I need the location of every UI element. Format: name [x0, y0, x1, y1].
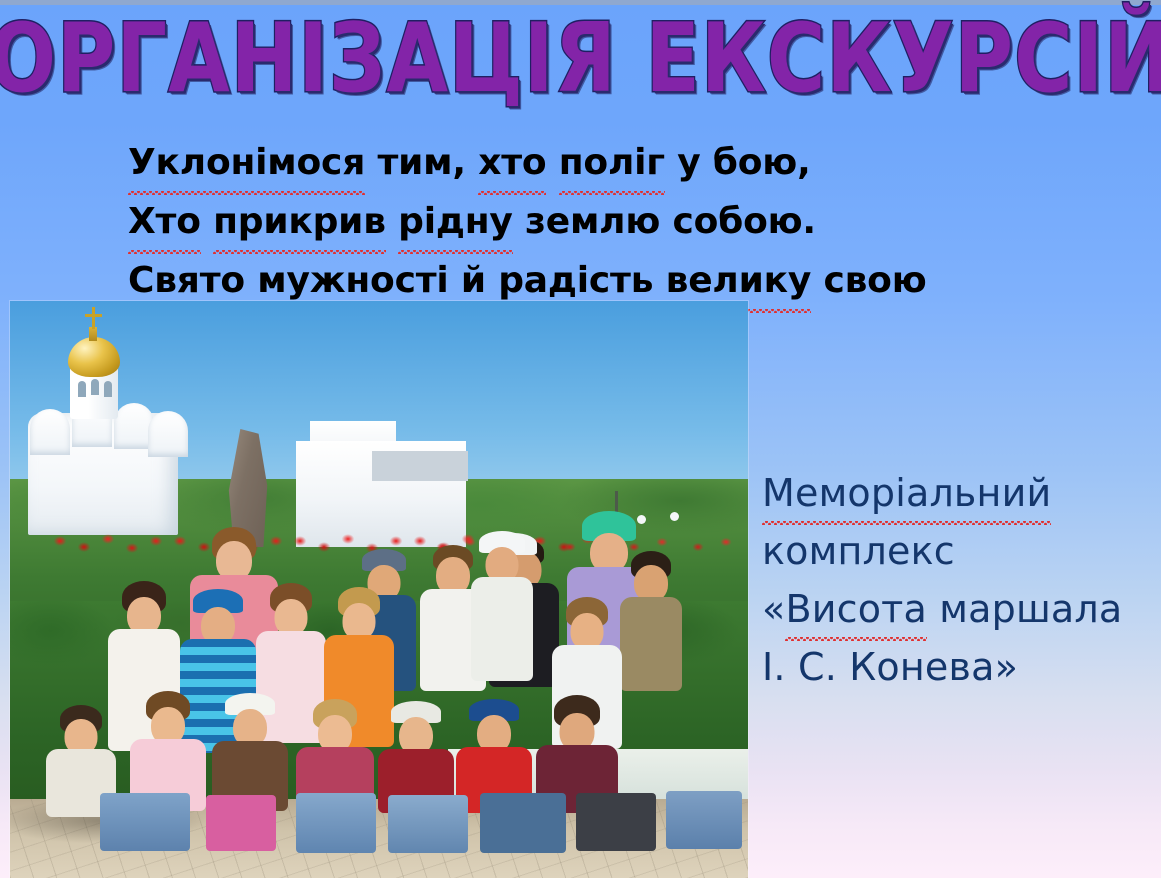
text-run: маршала [927, 587, 1122, 631]
photo-legs-row [480, 793, 566, 853]
poem-line: Хто прикрив рідну землю собою. [128, 192, 1028, 251]
text-run: свою [811, 260, 926, 301]
photo-caption: Меморіальнийкомплекс«Висота маршалаІ. С.… [762, 464, 1157, 696]
spellcheck-word: Уклонімося [128, 133, 365, 192]
text-run: й [449, 260, 499, 301]
photo-person [470, 531, 534, 681]
top-edge-strip [0, 0, 1161, 5]
photo-legs-row [576, 793, 656, 851]
spellcheck-word: поліг [559, 133, 665, 192]
poem-line: Уклонімося тим, хто поліг у бою, [128, 133, 1028, 192]
caption-line: Меморіальний [762, 464, 1157, 522]
caption-line: комплекс [762, 522, 1157, 580]
photo-cross-icon [92, 307, 95, 329]
text-run: тим, [365, 142, 478, 183]
caption-line: «Висота маршала [762, 580, 1157, 638]
spellcheck-word: хто [478, 133, 546, 192]
photo-church-arch [148, 411, 188, 457]
caption-line: І. С. Конева» [762, 638, 1157, 696]
slide: ОРГАНІЗАЦІЯ ЕКСКУРСІЙ Уклонімося тим, хт… [0, 0, 1161, 878]
text-run [653, 260, 665, 301]
photo-legs-row [206, 795, 276, 851]
photo-legs-row [388, 795, 468, 853]
photo-church-window [78, 381, 86, 397]
spellcheck-word: рідну [398, 192, 513, 251]
photo-lamp-globe [670, 512, 679, 521]
photo-cross-icon [85, 314, 102, 317]
text-run: І. С. Конева» [762, 645, 1018, 689]
photo-legs-row [100, 793, 190, 851]
photo-legs-row [296, 793, 376, 853]
photo-person [618, 551, 684, 691]
text-run [546, 142, 558, 183]
text-run: комплекс [762, 529, 955, 573]
photo-dome-neck [89, 327, 97, 341]
text-run: землю собою. [513, 201, 816, 242]
photo-memorial-structure [372, 451, 468, 481]
spellcheck-word: Меморіальний [762, 464, 1051, 522]
text-run [386, 201, 398, 242]
photo-person [210, 693, 290, 811]
photo-church-window [91, 379, 99, 395]
photo-church-arch [30, 409, 70, 455]
text-run [201, 201, 213, 242]
spellcheck-word: Хто [128, 192, 201, 251]
text-run: у бою, [665, 142, 811, 183]
page-title: ОРГАНІЗАЦІЯ ЕКСКУРСІЙ [0, 14, 1161, 104]
title-container: ОРГАНІЗАЦІЯ ЕКСКУРСІЙ [0, 14, 1161, 88]
photo-legs-row [666, 791, 742, 849]
text-run: Свято [128, 260, 257, 301]
excursion-photo [10, 301, 748, 878]
spellcheck-word: прикрив [213, 192, 386, 251]
text-run: « [762, 587, 785, 631]
spellcheck-word: Висота [785, 580, 927, 638]
photo-church-window [104, 381, 112, 397]
